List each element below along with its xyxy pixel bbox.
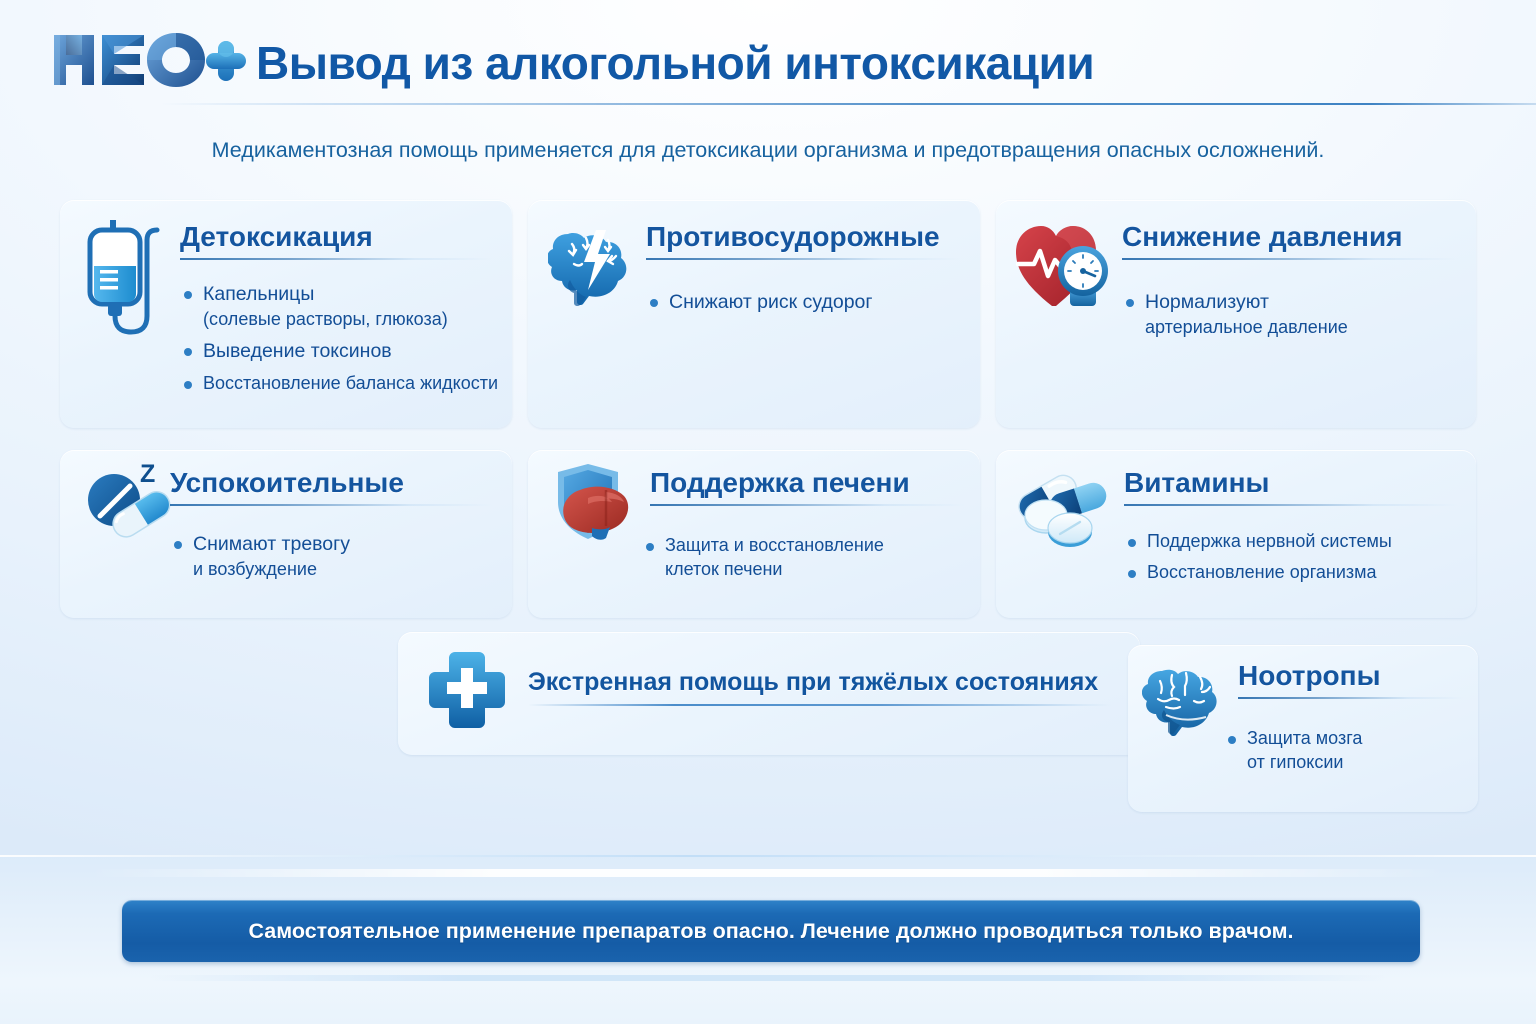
card-detoxification[interactable]: Детоксикация Капельницы(солевые растворы… <box>60 200 512 428</box>
card-nootropics[interactable]: Ноотропы Защита мозгаот гипоксии <box>1128 645 1478 812</box>
bullet-dot <box>1228 736 1236 744</box>
card-title: Ноотропы <box>1238 661 1464 690</box>
list-item: Снижают риск судорог <box>650 290 970 316</box>
bullet-text: Защита и восстановление <box>665 535 884 555</box>
bullet-text: Выведение токсинов <box>203 339 392 365</box>
card-bullet-list: Снимают тревогуи возбуждение <box>174 532 504 589</box>
card-title: Успокоительные <box>170 468 492 497</box>
background-sheen-top <box>90 869 1446 877</box>
bullet-dot <box>184 291 192 299</box>
bullet-text: Капельницы <box>203 283 314 305</box>
medical-cross-icon <box>428 648 506 734</box>
bullet-text: Защита мозга <box>1247 728 1362 748</box>
sleeping-pill-icon: Z <box>78 460 174 544</box>
list-item: Нормализуютартериальное давление <box>1126 290 1466 340</box>
card-vitamins[interactable]: Витамины Поддержка нервной системы Восст… <box>996 450 1476 618</box>
card-title-divider <box>1238 697 1464 699</box>
card-title-divider <box>180 258 492 260</box>
card-title-divider <box>650 504 964 506</box>
card-bullet-list: Защита и восстановлениеклеток печени <box>646 534 970 589</box>
card-bullet-list: Защита мозгаот гипоксии <box>1228 727 1466 782</box>
card-title-divider <box>646 258 960 260</box>
bullet-dot <box>1128 539 1136 547</box>
card-title: Детоксикация <box>180 222 492 251</box>
card-title: Витамины <box>1124 468 1458 497</box>
bullet-dot <box>174 541 182 549</box>
list-item: Выведение токсинов <box>184 339 504 365</box>
bullet-subtext: (солевые растворы, глюкоза) <box>203 308 448 332</box>
emergency-divider <box>528 704 1112 706</box>
bullet-dot <box>1126 299 1134 307</box>
warning-banner: Самостоятельное применение препаратов оп… <box>122 900 1420 962</box>
header: Вывод из алкогольной интоксикации <box>0 0 1536 115</box>
list-item: Защита и восстановлениеклеток печени <box>646 534 970 582</box>
bullet-text: Поддержка нервной системы <box>1147 530 1392 554</box>
emergency-help-bar[interactable]: Экстренная помощь при тяжёлых состояниях <box>398 632 1140 755</box>
card-title: Поддержка печени <box>650 468 964 497</box>
bullet-subtext: от гипоксии <box>1247 751 1362 775</box>
card-bullet-list: Поддержка нервной системы Восстановление… <box>1128 530 1468 592</box>
iv-drip-icon <box>80 218 172 336</box>
brain-lightning-icon <box>548 220 638 306</box>
card-title-divider <box>1124 504 1458 506</box>
list-item: Поддержка нервной системы <box>1128 530 1468 554</box>
list-item: Восстановление организма <box>1128 561 1468 585</box>
list-item: Защита мозгаот гипоксии <box>1228 727 1466 775</box>
bullet-dot <box>650 299 658 307</box>
shield-liver-icon <box>544 462 644 554</box>
brain-icon <box>1142 659 1228 739</box>
neo-plus-logo-icon <box>52 31 248 89</box>
bullet-text: Восстановление организма <box>1147 561 1377 585</box>
svg-text:Z: Z <box>140 460 155 488</box>
bullet-text: Нормализуют <box>1145 291 1269 313</box>
bullet-text: Снижают риск судорог <box>669 290 873 316</box>
list-item: Снимают тревогуи возбуждение <box>174 532 504 582</box>
bullet-dot <box>184 348 192 356</box>
bullet-dot <box>1128 570 1136 578</box>
card-liver-support[interactable]: Поддержка печени Защита и восстановление… <box>528 450 980 618</box>
bullet-subtext: и возбуждение <box>193 558 350 582</box>
bullet-dot <box>184 381 192 389</box>
card-title: Снижение давления <box>1122 222 1458 251</box>
bullet-text: Снимают тревогу <box>193 533 350 555</box>
header-divider <box>160 103 1536 105</box>
card-sedatives[interactable]: Z Успокоительные Снимают тревогуи возбуж… <box>60 450 512 618</box>
list-item: Капельницы(солевые растворы, глюкоза) <box>184 282 504 332</box>
card-bullet-list: Капельницы(солевые растворы, глюкоза) Вы… <box>184 282 504 403</box>
bullet-text: Восстановление баланса жидкости <box>203 372 498 396</box>
background-sheen-bottom <box>150 975 1386 981</box>
card-bullet-list: Снижают риск судорог <box>650 290 970 323</box>
bullet-dot <box>646 543 654 551</box>
warning-text: Самостоятельное применение препаратов оп… <box>248 919 1293 944</box>
card-title: Противосудорожные <box>646 222 960 251</box>
pills-capsules-icon <box>1006 464 1116 552</box>
brand-logo <box>52 32 248 88</box>
bullet-subtext: артериальное давление <box>1145 316 1348 340</box>
page-title: Вывод из алкогольной интоксикации <box>256 36 1094 90</box>
heart-pressure-gauge-icon <box>1012 218 1118 314</box>
card-title-divider <box>1122 258 1458 260</box>
bullet-subtext: клеток печени <box>665 558 884 582</box>
card-bullet-list: Нормализуютартериальное давление <box>1126 290 1466 347</box>
list-item: Восстановление баланса жидкости <box>184 372 504 396</box>
card-blood-pressure[interactable]: Снижение давления Нормализуютартериально… <box>996 200 1476 428</box>
card-title-divider <box>170 504 492 506</box>
page-subtitle: Медикаментозная помощь применяется для д… <box>0 138 1536 163</box>
emergency-help-label: Экстренная помощь при тяжёлых состояниях <box>528 668 1098 697</box>
card-anticonvulsants[interactable]: Противосудорожные Снижают риск судорог <box>528 200 980 428</box>
